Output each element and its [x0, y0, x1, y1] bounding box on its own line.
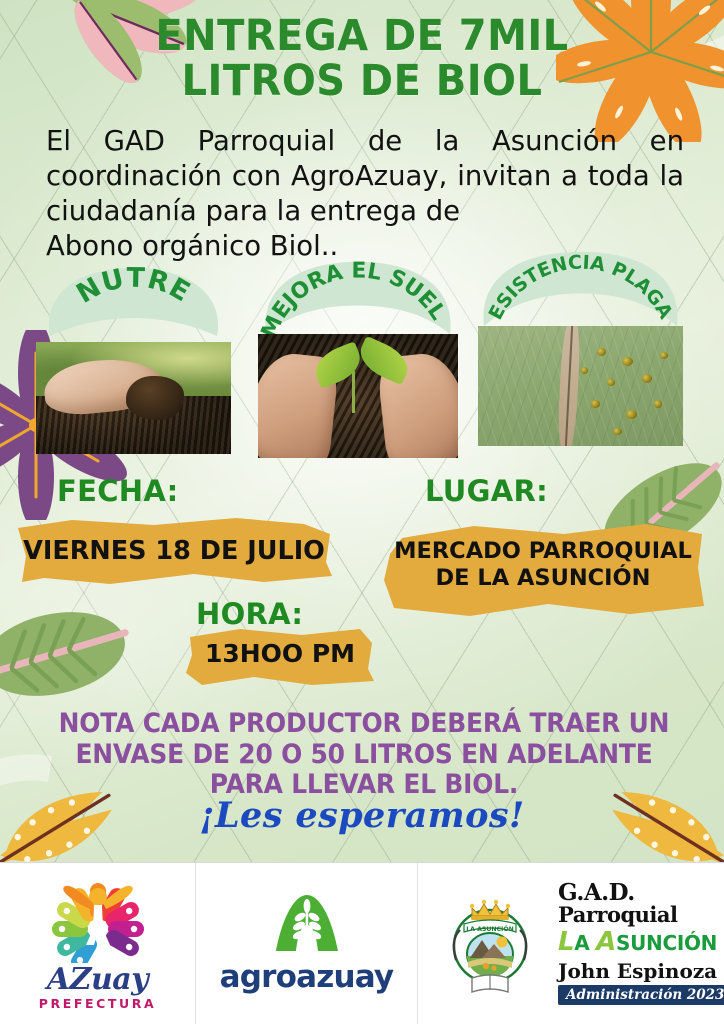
benefit-badge: RESISTENCIA PLAGAS: [478, 250, 683, 328]
title-line-1: ENTREGA DE 7MIL: [155, 11, 568, 61]
fecha-value-highlight: VIERNES 18 DE JULIO: [14, 512, 334, 590]
photo-seedling-stem: [352, 371, 355, 413]
fecha-label: FECHA:: [57, 474, 179, 508]
intro-paragraph: El GAD Parroquial de la Asunción en coor…: [46, 124, 684, 264]
parish-la-cap: L: [558, 927, 574, 957]
agroazuay-wordmark: agroazuay: [212, 959, 402, 995]
svg-text:NUTRE: NUTRE: [71, 263, 196, 310]
fecha-value: VIERNES 18 DE JULIO: [14, 512, 334, 566]
badge-text-arc: MEJORA EL SUELO: [258, 258, 458, 336]
gad-line-1: G.A.D.: [558, 882, 724, 904]
benefit-item: RESISTENCIA PLAGAS: [478, 250, 683, 446]
parish-a-cap: A: [596, 927, 616, 957]
gad-administration-period: Administración 2023 - 2027: [558, 985, 724, 1005]
title-line-2: LITROS DE BIOL: [25, 59, 698, 104]
azuay-sublabel: PREFECTURA: [23, 996, 173, 1011]
photo-pest-spot: [642, 374, 652, 383]
svg-text:MEJORA EL SUELO: MEJORA EL SUELO: [258, 258, 450, 336]
badge-text-arc: NUTRE: [36, 262, 231, 340]
footer-cell-azuay: AZuay PREFECTURA: [0, 863, 196, 1024]
photo-pest-spot: [626, 410, 637, 419]
photo-pest-spot: [597, 348, 606, 356]
photo-pest-spot: [607, 379, 615, 386]
footer-cell-gad: LA ASUNCIÓN: [418, 863, 724, 1024]
lugar-label: LUGAR:: [425, 474, 548, 508]
azuay-petals-icon: [38, 877, 158, 963]
benefit-photo-pest-leaf: [478, 326, 683, 446]
parish-rest: SUNCIÓN: [616, 931, 717, 955]
poster-root: ENTREGA DE 7MIL LITROS DE BIOL El GAD Pa…: [0, 0, 724, 1024]
photo-pest-spot: [581, 367, 588, 374]
photo-leaf-lamina: [478, 326, 683, 446]
note-text: NOTA CADA PRODUCTOR DEBERÁ TRAER UN ENVA…: [50, 709, 678, 801]
benefit-badge-label: MEJORA EL SUELO: [258, 258, 450, 336]
lugar-value: MERCADO PARROQUIAL DE LA ASUNCIÓN: [378, 520, 708, 591]
agroazuay-logo: agroazuay: [212, 893, 402, 995]
lugar-value-highlight: MERCADO PARROQUIAL DE LA ASUNCIÓN: [378, 520, 708, 620]
closing-text: ¡Les esperamos!: [0, 795, 724, 836]
poster-title: ENTREGA DE 7MIL LITROS DE BIOL: [25, 14, 698, 104]
parish-a-small: A: [574, 931, 589, 955]
fern-leaf-icon: [0, 588, 134, 720]
benefit-badge: MEJORA EL SUELO: [258, 258, 458, 336]
photo-pest-spot: [622, 357, 633, 366]
benefits-row: NUTRE MEJORA EL SUELO: [0, 262, 724, 472]
gad-parroquial-block: LA ASUNCIÓN: [418, 874, 724, 1014]
gad-parish-name: LA ASUNCIÓN: [558, 929, 724, 955]
footer-logos-bar: AZuay PREFECTURA: [0, 862, 724, 1024]
benefit-badge-label: NUTRE: [71, 263, 196, 310]
svg-text:RESISTENCIA PLAGAS: RESISTENCIA PLAGAS: [480, 250, 677, 323]
benefit-photo-seedling: [258, 334, 458, 458]
azuay-prefectura-logo: AZuay PREFECTURA: [23, 877, 173, 1011]
photo-soil-clump: [126, 376, 185, 421]
badge-text-arc: RESISTENCIA PLAGAS: [478, 250, 683, 328]
benefit-photo-hand-soil: [36, 342, 231, 454]
hora-value: 13HOO PM: [184, 625, 376, 669]
benefit-badge-label: RESISTENCIA PLAGAS: [480, 250, 677, 323]
benefit-item: NUTRE: [36, 262, 231, 454]
footer-cell-agroazuay: agroazuay: [196, 863, 418, 1024]
benefit-item: MEJORA EL SUELO: [258, 258, 458, 458]
gad-president-name: John Espinoza O.: [558, 961, 724, 982]
benefit-badge: NUTRE: [36, 262, 231, 340]
hora-value-highlight: 13HOO PM: [184, 625, 376, 687]
gad-text-column: G.A.D. Parroquial LA ASUNCIÓN John Espin…: [558, 882, 724, 1005]
svg-text:LA ASUNCIÓN: LA ASUNCIÓN: [466, 924, 514, 933]
lugar-value-line-2: DE LA ASUNCIÓN: [378, 565, 708, 592]
azuay-wordmark: AZuay: [23, 965, 173, 995]
intro-paragraph-main: El GAD Parroquial de la Asunción en coor…: [46, 125, 684, 227]
gad-crest-icon: LA ASUNCIÓN: [424, 874, 552, 1014]
agroazuay-wheat-icon: [274, 893, 340, 955]
gad-line-2: Parroquial: [558, 904, 724, 925]
lugar-value-line-1: MERCADO PARROQUIAL: [378, 538, 708, 565]
